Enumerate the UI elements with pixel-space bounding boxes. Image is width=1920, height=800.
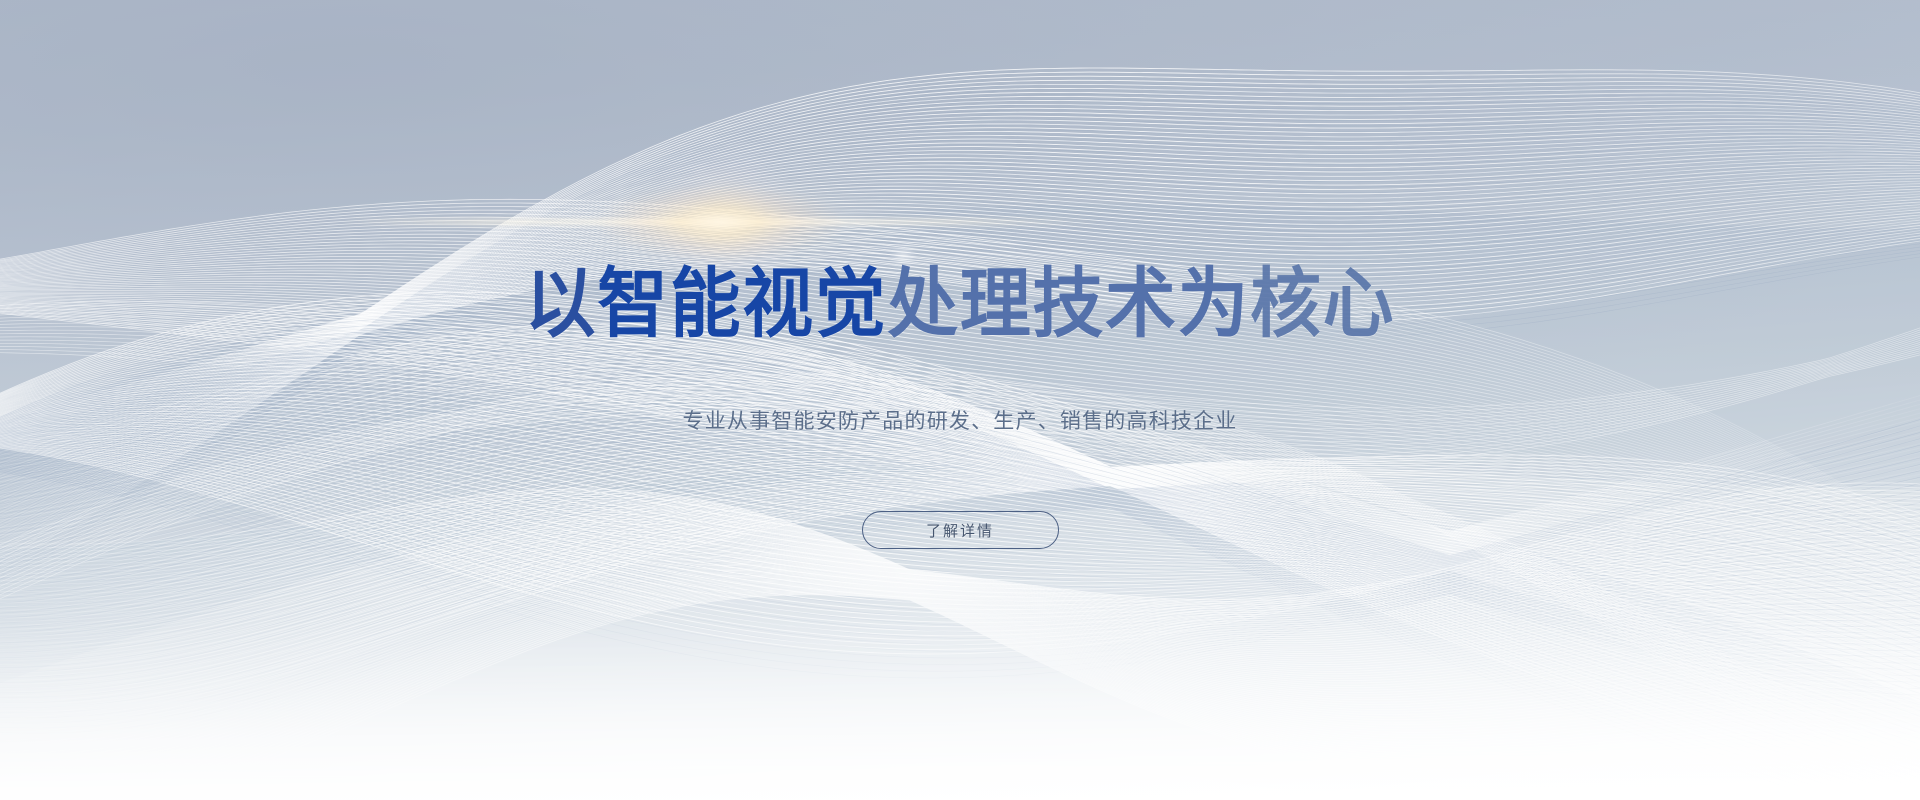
cta-container: 了解详情 — [0, 511, 1920, 549]
learn-more-button[interactable]: 了解详情 — [862, 511, 1059, 549]
headline-segment-4: 核心 — [1250, 262, 1395, 346]
headline-segment-1: 以 — [525, 262, 598, 346]
headline-segment-3: 处理技术为 — [887, 262, 1250, 346]
headline-segment-2: 智能视觉 — [597, 262, 887, 346]
hero-banner: 以智能视觉处理技术为核心 专业从事智能安防产品的研发、生产、销售的高科技企业 了… — [0, 0, 1920, 800]
flowing-line-wave-pattern — [0, 0, 1920, 800]
page-subtitle: 专业从事智能安防产品的研发、生产、销售的高科技企业 — [0, 406, 1920, 438]
page-title: 以智能视觉处理技术为核心 — [67, 262, 1853, 346]
